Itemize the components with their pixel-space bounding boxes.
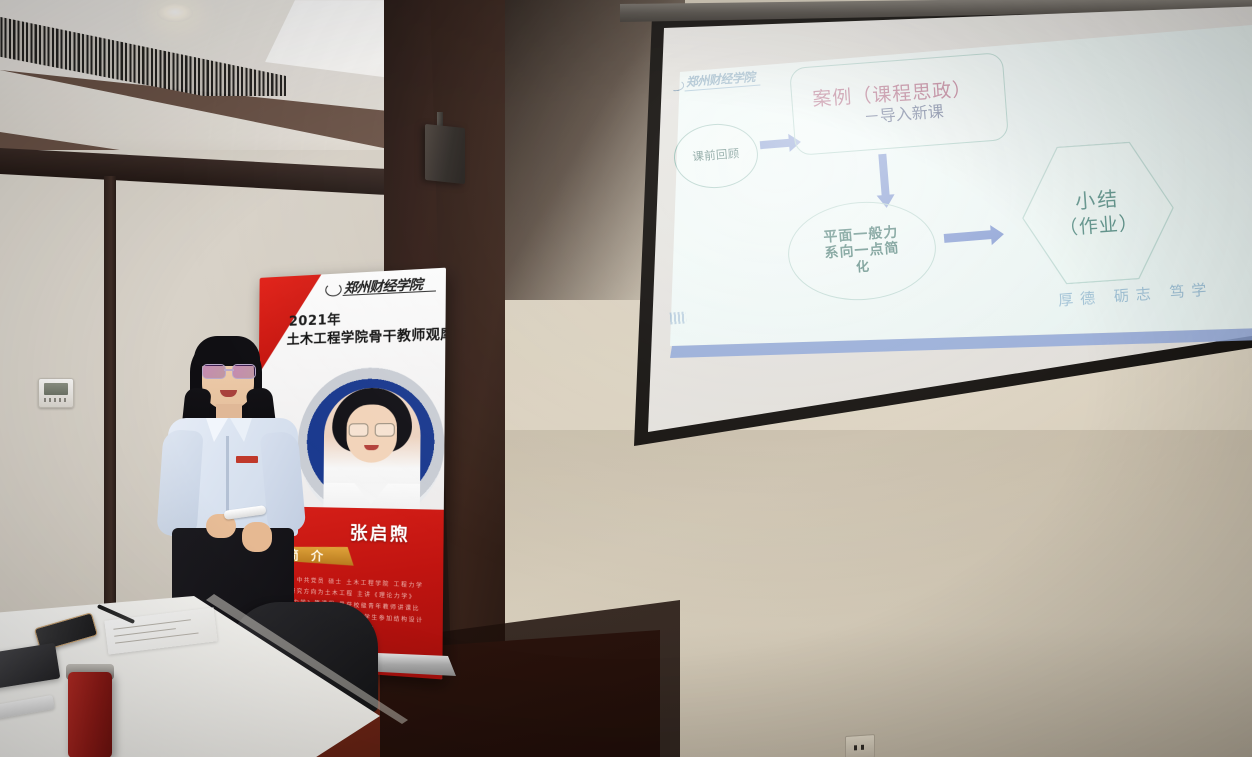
flow-node-review: 课前回顾 [672,121,761,191]
flow-node-review-label: 课前回顾 [692,147,740,164]
flow-node-topic: 平面一般力 系向一点简 化 [785,197,939,305]
presenter-arm-left [156,429,203,538]
banner-presenter-name: 张启煦 [350,518,410,546]
flow-node-summary: 小结 （作业） [1017,139,1178,287]
wall-panel-seam [104,176,116,606]
portrait-glasses-icon [349,423,395,435]
classroom-photo: 郑州财经学院 课前回顾 案例（课程思政） －导入新课 平面一般力 系向一点简 化… [0,0,1252,757]
wall-thermostat-panel[interactable] [38,378,74,408]
flow-node-case-line2: －导入新课 [863,103,944,128]
flow-node-summary-line1: 小结 [1074,188,1120,215]
hexagon-text-group: 小结 （作业） [1056,186,1139,239]
flow-arrow-topic-to-summary-icon [944,230,993,243]
presenter-name-badge [236,456,258,463]
banner-logo-mark-icon [325,283,341,297]
flow-node-topic-line3: 化 [856,259,871,275]
presenter-hand-right [242,522,272,552]
flow-node-case: 案例（课程思政） －导入新课 [789,52,1009,156]
flow-arrow-case-to-topic-icon [878,154,889,197]
ceiling-downlight-icon [157,4,193,22]
thermostat-screen [44,383,68,395]
wall-speaker-icon [425,124,465,184]
wall-power-outlet-icon [845,734,875,757]
presenter-bangs [194,336,260,366]
flow-arrow-review-to-case-icon [760,139,791,149]
slide-institution-logo: 郑州财经学院 [667,68,764,96]
red-thermos-icon [68,672,112,757]
presenter [146,332,336,632]
presenter-glasses-icon [202,364,256,377]
thermostat-buttons[interactable] [44,398,68,402]
slide-footer-mark-icon [670,311,687,324]
presenter-arm-right [260,431,307,534]
